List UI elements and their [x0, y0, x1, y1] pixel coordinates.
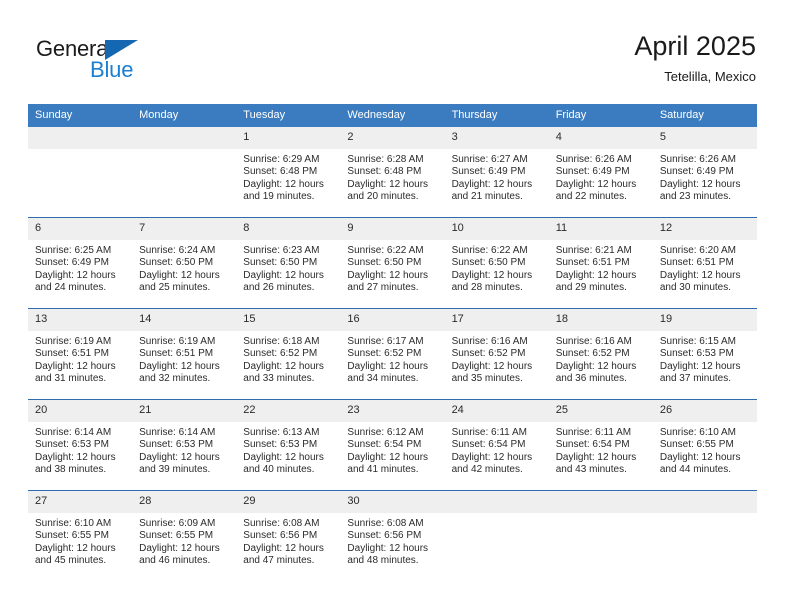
sunset-time: Sunset: 6:53 PM [139, 439, 229, 451]
calendar-day-cell[interactable]: 11Sunrise: 6:21 AMSunset: 6:51 PMDayligh… [549, 218, 653, 309]
daylight-duration-line1: Daylight: 12 hours [452, 452, 542, 464]
sunrise-time: Sunrise: 6:29 AM [243, 154, 333, 166]
day-details: Sunrise: 6:14 AMSunset: 6:53 PMDaylight:… [132, 422, 236, 477]
daylight-duration-line1: Daylight: 12 hours [660, 452, 750, 464]
day-details: Sunrise: 6:19 AMSunset: 6:51 PMDaylight:… [132, 331, 236, 386]
day-number [549, 491, 653, 513]
calendar-day-cell[interactable]: 8Sunrise: 6:23 AMSunset: 6:50 PMDaylight… [236, 218, 340, 309]
day-cell-inner [549, 491, 653, 581]
sunset-time: Sunset: 6:54 PM [347, 439, 437, 451]
sunset-time: Sunset: 6:48 PM [347, 166, 437, 178]
daylight-duration-line1: Daylight: 12 hours [556, 179, 646, 191]
calendar-day-cell[interactable]: 24Sunrise: 6:11 AMSunset: 6:54 PMDayligh… [445, 400, 549, 491]
day-cell-inner: 28Sunrise: 6:09 AMSunset: 6:55 PMDayligh… [132, 491, 236, 581]
sunrise-time: Sunrise: 6:11 AM [556, 427, 646, 439]
daylight-duration-line2: and 19 minutes. [243, 191, 333, 203]
calendar-week-row: 6Sunrise: 6:25 AMSunset: 6:49 PMDaylight… [28, 218, 757, 309]
day-number: 27 [28, 491, 132, 513]
day-cell-inner [653, 491, 757, 581]
day-cell-inner: 9Sunrise: 6:22 AMSunset: 6:50 PMDaylight… [340, 218, 444, 308]
day-cell-inner: 13Sunrise: 6:19 AMSunset: 6:51 PMDayligh… [28, 309, 132, 399]
calendar-day-cell[interactable]: 15Sunrise: 6:18 AMSunset: 6:52 PMDayligh… [236, 309, 340, 400]
day-number [28, 127, 132, 149]
sunrise-time: Sunrise: 6:23 AM [243, 245, 333, 257]
sunset-time: Sunset: 6:52 PM [243, 348, 333, 360]
sunrise-time: Sunrise: 6:08 AM [347, 518, 437, 530]
sunrise-time: Sunrise: 6:22 AM [347, 245, 437, 257]
day-number: 1 [236, 127, 340, 149]
daylight-duration-line2: and 42 minutes. [452, 464, 542, 476]
day-details: Sunrise: 6:08 AMSunset: 6:56 PMDaylight:… [340, 513, 444, 568]
daylight-duration-line2: and 46 minutes. [139, 555, 229, 567]
sunset-time: Sunset: 6:51 PM [35, 348, 125, 360]
daylight-duration-line2: and 36 minutes. [556, 373, 646, 385]
calendar-empty-cell [132, 127, 236, 218]
calendar-day-cell[interactable]: 26Sunrise: 6:10 AMSunset: 6:55 PMDayligh… [653, 400, 757, 491]
day-details: Sunrise: 6:13 AMSunset: 6:53 PMDaylight:… [236, 422, 340, 477]
day-cell-inner: 14Sunrise: 6:19 AMSunset: 6:51 PMDayligh… [132, 309, 236, 399]
day-number: 22 [236, 400, 340, 422]
daylight-duration-line1: Daylight: 12 hours [139, 361, 229, 373]
sunrise-time: Sunrise: 6:21 AM [556, 245, 646, 257]
day-details: Sunrise: 6:10 AMSunset: 6:55 PMDaylight:… [653, 422, 757, 477]
day-number: 17 [445, 309, 549, 331]
day-number: 9 [340, 218, 444, 240]
day-number: 2 [340, 127, 444, 149]
calendar-empty-cell [445, 491, 549, 582]
sunset-time: Sunset: 6:54 PM [452, 439, 542, 451]
daylight-duration-line2: and 32 minutes. [139, 373, 229, 385]
daylight-duration-line1: Daylight: 12 hours [243, 452, 333, 464]
day-cell-inner: 11Sunrise: 6:21 AMSunset: 6:51 PMDayligh… [549, 218, 653, 308]
sunset-time: Sunset: 6:51 PM [660, 257, 750, 269]
day-number: 15 [236, 309, 340, 331]
sunset-time: Sunset: 6:49 PM [35, 257, 125, 269]
day-details: Sunrise: 6:19 AMSunset: 6:51 PMDaylight:… [28, 331, 132, 386]
calendar-week-row: 20Sunrise: 6:14 AMSunset: 6:53 PMDayligh… [28, 400, 757, 491]
daylight-duration-line1: Daylight: 12 hours [243, 270, 333, 282]
sunrise-time: Sunrise: 6:18 AM [243, 336, 333, 348]
daylight-duration-line1: Daylight: 12 hours [35, 270, 125, 282]
sunset-time: Sunset: 6:53 PM [35, 439, 125, 451]
sunset-time: Sunset: 6:50 PM [243, 257, 333, 269]
day-details: Sunrise: 6:16 AMSunset: 6:52 PMDaylight:… [445, 331, 549, 386]
day-details: Sunrise: 6:25 AMSunset: 6:49 PMDaylight:… [28, 240, 132, 295]
sunset-time: Sunset: 6:49 PM [660, 166, 750, 178]
daylight-duration-line1: Daylight: 12 hours [660, 361, 750, 373]
day-number [132, 127, 236, 149]
day-details: Sunrise: 6:22 AMSunset: 6:50 PMDaylight:… [340, 240, 444, 295]
daylight-duration-line2: and 44 minutes. [660, 464, 750, 476]
sunrise-time: Sunrise: 6:19 AM [139, 336, 229, 348]
calendar-page: General Blue April 2025 Tetelilla, Mexic… [0, 0, 792, 612]
day-number: 24 [445, 400, 549, 422]
sunset-time: Sunset: 6:49 PM [452, 166, 542, 178]
calendar-week-row: 1Sunrise: 6:29 AMSunset: 6:48 PMDaylight… [28, 127, 757, 218]
sunset-time: Sunset: 6:53 PM [660, 348, 750, 360]
daylight-duration-line2: and 30 minutes. [660, 282, 750, 294]
day-details: Sunrise: 6:26 AMSunset: 6:49 PMDaylight:… [549, 149, 653, 204]
day-number: 13 [28, 309, 132, 331]
day-number: 16 [340, 309, 444, 331]
day-cell-inner: 26Sunrise: 6:10 AMSunset: 6:55 PMDayligh… [653, 400, 757, 490]
sunrise-time: Sunrise: 6:28 AM [347, 154, 437, 166]
day-number: 20 [28, 400, 132, 422]
day-cell-inner: 5Sunrise: 6:26 AMSunset: 6:49 PMDaylight… [653, 127, 757, 217]
day-number: 10 [445, 218, 549, 240]
sunset-time: Sunset: 6:49 PM [556, 166, 646, 178]
calendar-day-cell[interactable]: 13Sunrise: 6:19 AMSunset: 6:51 PMDayligh… [28, 309, 132, 400]
weekday-header-friday: Friday [549, 104, 653, 127]
calendar-day-cell[interactable]: 27Sunrise: 6:10 AMSunset: 6:55 PMDayligh… [28, 491, 132, 582]
sunrise-sunset-calendar: Sunday Monday Tuesday Wednesday Thursday… [28, 104, 757, 581]
sunset-time: Sunset: 6:52 PM [452, 348, 542, 360]
sunrise-time: Sunrise: 6:14 AM [35, 427, 125, 439]
daylight-duration-line2: and 29 minutes. [556, 282, 646, 294]
day-cell-inner: 21Sunrise: 6:14 AMSunset: 6:53 PMDayligh… [132, 400, 236, 490]
daylight-duration-line1: Daylight: 12 hours [556, 270, 646, 282]
calendar-day-cell[interactable]: 9Sunrise: 6:22 AMSunset: 6:50 PMDaylight… [340, 218, 444, 309]
day-cell-inner: 15Sunrise: 6:18 AMSunset: 6:52 PMDayligh… [236, 309, 340, 399]
calendar-day-cell[interactable]: 4Sunrise: 6:26 AMSunset: 6:49 PMDaylight… [549, 127, 653, 218]
daylight-duration-line2: and 38 minutes. [35, 464, 125, 476]
daylight-duration-line2: and 35 minutes. [452, 373, 542, 385]
page-header: General Blue April 2025 Tetelilla, Mexic… [0, 0, 792, 100]
day-cell-inner: 17Sunrise: 6:16 AMSunset: 6:52 PMDayligh… [445, 309, 549, 399]
daylight-duration-line2: and 41 minutes. [347, 464, 437, 476]
daylight-duration-line1: Daylight: 12 hours [660, 179, 750, 191]
day-cell-inner [132, 127, 236, 217]
sunrise-time: Sunrise: 6:15 AM [660, 336, 750, 348]
daylight-duration-line1: Daylight: 12 hours [35, 543, 125, 555]
day-cell-inner: 10Sunrise: 6:22 AMSunset: 6:50 PMDayligh… [445, 218, 549, 308]
weekday-header-wednesday: Wednesday [340, 104, 444, 127]
day-cell-inner: 6Sunrise: 6:25 AMSunset: 6:49 PMDaylight… [28, 218, 132, 308]
day-number: 3 [445, 127, 549, 149]
daylight-duration-line1: Daylight: 12 hours [139, 452, 229, 464]
calendar-day-cell[interactable]: 17Sunrise: 6:16 AMSunset: 6:52 PMDayligh… [445, 309, 549, 400]
sunset-time: Sunset: 6:55 PM [35, 530, 125, 542]
weekday-header-thursday: Thursday [445, 104, 549, 127]
sunset-time: Sunset: 6:52 PM [347, 348, 437, 360]
daylight-duration-line2: and 24 minutes. [35, 282, 125, 294]
weekday-header-saturday: Saturday [653, 104, 757, 127]
day-details: Sunrise: 6:22 AMSunset: 6:50 PMDaylight:… [445, 240, 549, 295]
day-details: Sunrise: 6:12 AMSunset: 6:54 PMDaylight:… [340, 422, 444, 477]
day-details: Sunrise: 6:24 AMSunset: 6:50 PMDaylight:… [132, 240, 236, 295]
sunset-time: Sunset: 6:51 PM [139, 348, 229, 360]
day-details: Sunrise: 6:16 AMSunset: 6:52 PMDaylight:… [549, 331, 653, 386]
daylight-duration-line1: Daylight: 12 hours [243, 179, 333, 191]
calendar-day-cell[interactable]: 6Sunrise: 6:25 AMSunset: 6:49 PMDaylight… [28, 218, 132, 309]
calendar-week-row: 27Sunrise: 6:10 AMSunset: 6:55 PMDayligh… [28, 491, 757, 582]
calendar-day-cell[interactable]: 12Sunrise: 6:20 AMSunset: 6:51 PMDayligh… [653, 218, 757, 309]
calendar-day-cell[interactable]: 19Sunrise: 6:15 AMSunset: 6:53 PMDayligh… [653, 309, 757, 400]
day-number: 21 [132, 400, 236, 422]
sunset-time: Sunset: 6:56 PM [243, 530, 333, 542]
day-number: 7 [132, 218, 236, 240]
day-number: 5 [653, 127, 757, 149]
day-number [653, 491, 757, 513]
day-cell-inner: 12Sunrise: 6:20 AMSunset: 6:51 PMDayligh… [653, 218, 757, 308]
daylight-duration-line1: Daylight: 12 hours [35, 361, 125, 373]
day-number: 11 [549, 218, 653, 240]
sunrise-time: Sunrise: 6:16 AM [452, 336, 542, 348]
sunrise-time: Sunrise: 6:22 AM [452, 245, 542, 257]
calendar-week-row: 13Sunrise: 6:19 AMSunset: 6:51 PMDayligh… [28, 309, 757, 400]
day-details: Sunrise: 6:08 AMSunset: 6:56 PMDaylight:… [236, 513, 340, 568]
daylight-duration-line2: and 43 minutes. [556, 464, 646, 476]
sunset-time: Sunset: 6:50 PM [452, 257, 542, 269]
day-details: Sunrise: 6:11 AMSunset: 6:54 PMDaylight:… [445, 422, 549, 477]
calendar-day-cell[interactable]: 18Sunrise: 6:16 AMSunset: 6:52 PMDayligh… [549, 309, 653, 400]
calendar-day-cell[interactable]: 5Sunrise: 6:26 AMSunset: 6:49 PMDaylight… [653, 127, 757, 218]
calendar-day-cell[interactable]: 28Sunrise: 6:09 AMSunset: 6:55 PMDayligh… [132, 491, 236, 582]
sunset-time: Sunset: 6:50 PM [347, 257, 437, 269]
day-details: Sunrise: 6:14 AMSunset: 6:53 PMDaylight:… [28, 422, 132, 477]
sunset-time: Sunset: 6:55 PM [139, 530, 229, 542]
day-cell-inner: 16Sunrise: 6:17 AMSunset: 6:52 PMDayligh… [340, 309, 444, 399]
calendar-empty-cell [549, 491, 653, 582]
day-cell-inner: 7Sunrise: 6:24 AMSunset: 6:50 PMDaylight… [132, 218, 236, 308]
sunrise-time: Sunrise: 6:10 AM [660, 427, 750, 439]
daylight-duration-line2: and 21 minutes. [452, 191, 542, 203]
daylight-duration-line2: and 23 minutes. [660, 191, 750, 203]
daylight-duration-line1: Daylight: 12 hours [660, 270, 750, 282]
day-number: 25 [549, 400, 653, 422]
sunrise-time: Sunrise: 6:08 AM [243, 518, 333, 530]
day-number: 6 [28, 218, 132, 240]
sunrise-time: Sunrise: 6:17 AM [347, 336, 437, 348]
day-cell-inner: 8Sunrise: 6:23 AMSunset: 6:50 PMDaylight… [236, 218, 340, 308]
day-number: 8 [236, 218, 340, 240]
daylight-duration-line1: Daylight: 12 hours [347, 452, 437, 464]
sunrise-time: Sunrise: 6:24 AM [139, 245, 229, 257]
day-number: 12 [653, 218, 757, 240]
sunrise-time: Sunrise: 6:13 AM [243, 427, 333, 439]
day-number [445, 491, 549, 513]
day-cell-inner [445, 491, 549, 581]
sunset-time: Sunset: 6:51 PM [556, 257, 646, 269]
sunrise-time: Sunrise: 6:20 AM [660, 245, 750, 257]
weekday-header-tuesday: Tuesday [236, 104, 340, 127]
sunrise-time: Sunrise: 6:27 AM [452, 154, 542, 166]
daylight-duration-line1: Daylight: 12 hours [347, 270, 437, 282]
day-details: Sunrise: 6:21 AMSunset: 6:51 PMDaylight:… [549, 240, 653, 295]
day-details: Sunrise: 6:11 AMSunset: 6:54 PMDaylight:… [549, 422, 653, 477]
sunrise-time: Sunrise: 6:16 AM [556, 336, 646, 348]
calendar-empty-cell [28, 127, 132, 218]
sunrise-time: Sunrise: 6:19 AM [35, 336, 125, 348]
calendar-empty-cell [653, 491, 757, 582]
day-details: Sunrise: 6:23 AMSunset: 6:50 PMDaylight:… [236, 240, 340, 295]
daylight-duration-line1: Daylight: 12 hours [347, 543, 437, 555]
calendar-day-cell[interactable]: 23Sunrise: 6:12 AMSunset: 6:54 PMDayligh… [340, 400, 444, 491]
daylight-duration-line2: and 34 minutes. [347, 373, 437, 385]
calendar-day-cell[interactable]: 16Sunrise: 6:17 AMSunset: 6:52 PMDayligh… [340, 309, 444, 400]
daylight-duration-line1: Daylight: 12 hours [35, 452, 125, 464]
title-block: April 2025 Tetelilla, Mexico [634, 30, 756, 86]
day-cell-inner: 20Sunrise: 6:14 AMSunset: 6:53 PMDayligh… [28, 400, 132, 490]
daylight-duration-line2: and 48 minutes. [347, 555, 437, 567]
sunrise-time: Sunrise: 6:26 AM [660, 154, 750, 166]
daylight-duration-line1: Daylight: 12 hours [452, 361, 542, 373]
daylight-duration-line2: and 45 minutes. [35, 555, 125, 567]
calendar-header-row: Sunday Monday Tuesday Wednesday Thursday… [28, 104, 757, 127]
day-number: 29 [236, 491, 340, 513]
day-number: 30 [340, 491, 444, 513]
day-details: Sunrise: 6:17 AMSunset: 6:52 PMDaylight:… [340, 331, 444, 386]
day-number: 19 [653, 309, 757, 331]
calendar-day-cell[interactable]: 3Sunrise: 6:27 AMSunset: 6:49 PMDaylight… [445, 127, 549, 218]
daylight-duration-line1: Daylight: 12 hours [556, 361, 646, 373]
daylight-duration-line1: Daylight: 12 hours [243, 543, 333, 555]
calendar-day-cell[interactable]: 22Sunrise: 6:13 AMSunset: 6:53 PMDayligh… [236, 400, 340, 491]
weekday-header-row: Sunday Monday Tuesday Wednesday Thursday… [28, 104, 757, 127]
general-blue-logo[interactable]: General Blue [36, 36, 166, 84]
daylight-duration-line2: and 22 minutes. [556, 191, 646, 203]
day-details: Sunrise: 6:20 AMSunset: 6:51 PMDaylight:… [653, 240, 757, 295]
daylight-duration-line1: Daylight: 12 hours [139, 543, 229, 555]
calendar-day-cell[interactable]: 21Sunrise: 6:14 AMSunset: 6:53 PMDayligh… [132, 400, 236, 491]
daylight-duration-line2: and 25 minutes. [139, 282, 229, 294]
calendar-day-cell[interactable]: 30Sunrise: 6:08 AMSunset: 6:56 PMDayligh… [340, 491, 444, 582]
daylight-duration-line2: and 33 minutes. [243, 373, 333, 385]
day-cell-inner: 24Sunrise: 6:11 AMSunset: 6:54 PMDayligh… [445, 400, 549, 490]
day-cell-inner: 1Sunrise: 6:29 AMSunset: 6:48 PMDaylight… [236, 127, 340, 217]
sunset-time: Sunset: 6:52 PM [556, 348, 646, 360]
day-cell-inner: 30Sunrise: 6:08 AMSunset: 6:56 PMDayligh… [340, 491, 444, 581]
weekday-header-monday: Monday [132, 104, 236, 127]
day-details: Sunrise: 6:09 AMSunset: 6:55 PMDaylight:… [132, 513, 236, 568]
daylight-duration-line2: and 26 minutes. [243, 282, 333, 294]
day-cell-inner: 3Sunrise: 6:27 AMSunset: 6:49 PMDaylight… [445, 127, 549, 217]
sunrise-time: Sunrise: 6:09 AM [139, 518, 229, 530]
day-number: 23 [340, 400, 444, 422]
daylight-duration-line2: and 28 minutes. [452, 282, 542, 294]
day-number: 28 [132, 491, 236, 513]
day-details: Sunrise: 6:18 AMSunset: 6:52 PMDaylight:… [236, 331, 340, 386]
daylight-duration-line1: Daylight: 12 hours [243, 361, 333, 373]
calendar-day-cell[interactable]: 29Sunrise: 6:08 AMSunset: 6:56 PMDayligh… [236, 491, 340, 582]
daylight-duration-line2: and 37 minutes. [660, 373, 750, 385]
sunrise-time: Sunrise: 6:26 AM [556, 154, 646, 166]
calendar-day-cell[interactable]: 1Sunrise: 6:29 AMSunset: 6:48 PMDaylight… [236, 127, 340, 218]
daylight-duration-line2: and 31 minutes. [35, 373, 125, 385]
day-number: 4 [549, 127, 653, 149]
daylight-duration-line2: and 47 minutes. [243, 555, 333, 567]
day-cell-inner: 4Sunrise: 6:26 AMSunset: 6:49 PMDaylight… [549, 127, 653, 217]
day-cell-inner: 27Sunrise: 6:10 AMSunset: 6:55 PMDayligh… [28, 491, 132, 581]
day-cell-inner: 18Sunrise: 6:16 AMSunset: 6:52 PMDayligh… [549, 309, 653, 399]
day-details: Sunrise: 6:10 AMSunset: 6:55 PMDaylight:… [28, 513, 132, 568]
daylight-duration-line1: Daylight: 12 hours [347, 179, 437, 191]
sunrise-time: Sunrise: 6:12 AM [347, 427, 437, 439]
sunrise-time: Sunrise: 6:10 AM [35, 518, 125, 530]
weekday-header-sunday: Sunday [28, 104, 132, 127]
logo-text-blue: Blue [90, 57, 133, 83]
calendar-day-cell[interactable]: 2Sunrise: 6:28 AMSunset: 6:48 PMDaylight… [340, 127, 444, 218]
daylight-duration-line1: Daylight: 12 hours [452, 179, 542, 191]
calendar-day-cell[interactable]: 20Sunrise: 6:14 AMSunset: 6:53 PMDayligh… [28, 400, 132, 491]
sunrise-time: Sunrise: 6:14 AM [139, 427, 229, 439]
daylight-duration-line1: Daylight: 12 hours [556, 452, 646, 464]
daylight-duration-line1: Daylight: 12 hours [139, 270, 229, 282]
day-number: 18 [549, 309, 653, 331]
sunset-time: Sunset: 6:55 PM [660, 439, 750, 451]
calendar-day-cell[interactable]: 25Sunrise: 6:11 AMSunset: 6:54 PMDayligh… [549, 400, 653, 491]
daylight-duration-line2: and 20 minutes. [347, 191, 437, 203]
sunset-time: Sunset: 6:56 PM [347, 530, 437, 542]
day-number: 26 [653, 400, 757, 422]
sunset-time: Sunset: 6:53 PM [243, 439, 333, 451]
calendar-day-cell[interactable]: 10Sunrise: 6:22 AMSunset: 6:50 PMDayligh… [445, 218, 549, 309]
daylight-duration-line2: and 27 minutes. [347, 282, 437, 294]
calendar-body: 1Sunrise: 6:29 AMSunset: 6:48 PMDaylight… [28, 127, 757, 581]
day-cell-inner: 29Sunrise: 6:08 AMSunset: 6:56 PMDayligh… [236, 491, 340, 581]
day-details: Sunrise: 6:29 AMSunset: 6:48 PMDaylight:… [236, 149, 340, 204]
day-details: Sunrise: 6:27 AMSunset: 6:49 PMDaylight:… [445, 149, 549, 204]
daylight-duration-line1: Daylight: 12 hours [347, 361, 437, 373]
day-cell-inner: 25Sunrise: 6:11 AMSunset: 6:54 PMDayligh… [549, 400, 653, 490]
sunrise-time: Sunrise: 6:11 AM [452, 427, 542, 439]
daylight-duration-line2: and 40 minutes. [243, 464, 333, 476]
calendar-day-cell[interactable]: 14Sunrise: 6:19 AMSunset: 6:51 PMDayligh… [132, 309, 236, 400]
sunset-time: Sunset: 6:50 PM [139, 257, 229, 269]
page-title: April 2025 [634, 30, 756, 62]
day-cell-inner: 19Sunrise: 6:15 AMSunset: 6:53 PMDayligh… [653, 309, 757, 399]
day-cell-inner: 2Sunrise: 6:28 AMSunset: 6:48 PMDaylight… [340, 127, 444, 217]
day-cell-inner: 23Sunrise: 6:12 AMSunset: 6:54 PMDayligh… [340, 400, 444, 490]
page-subtitle-location: Tetelilla, Mexico [634, 68, 756, 86]
day-number: 14 [132, 309, 236, 331]
daylight-duration-line1: Daylight: 12 hours [452, 270, 542, 282]
day-details: Sunrise: 6:28 AMSunset: 6:48 PMDaylight:… [340, 149, 444, 204]
day-cell-inner [28, 127, 132, 217]
sunrise-time: Sunrise: 6:25 AM [35, 245, 125, 257]
daylight-duration-line2: and 39 minutes. [139, 464, 229, 476]
sunset-time: Sunset: 6:48 PM [243, 166, 333, 178]
day-cell-inner: 22Sunrise: 6:13 AMSunset: 6:53 PMDayligh… [236, 400, 340, 490]
sunset-time: Sunset: 6:54 PM [556, 439, 646, 451]
calendar-day-cell[interactable]: 7Sunrise: 6:24 AMSunset: 6:50 PMDaylight… [132, 218, 236, 309]
day-details: Sunrise: 6:26 AMSunset: 6:49 PMDaylight:… [653, 149, 757, 204]
day-details: Sunrise: 6:15 AMSunset: 6:53 PMDaylight:… [653, 331, 757, 386]
